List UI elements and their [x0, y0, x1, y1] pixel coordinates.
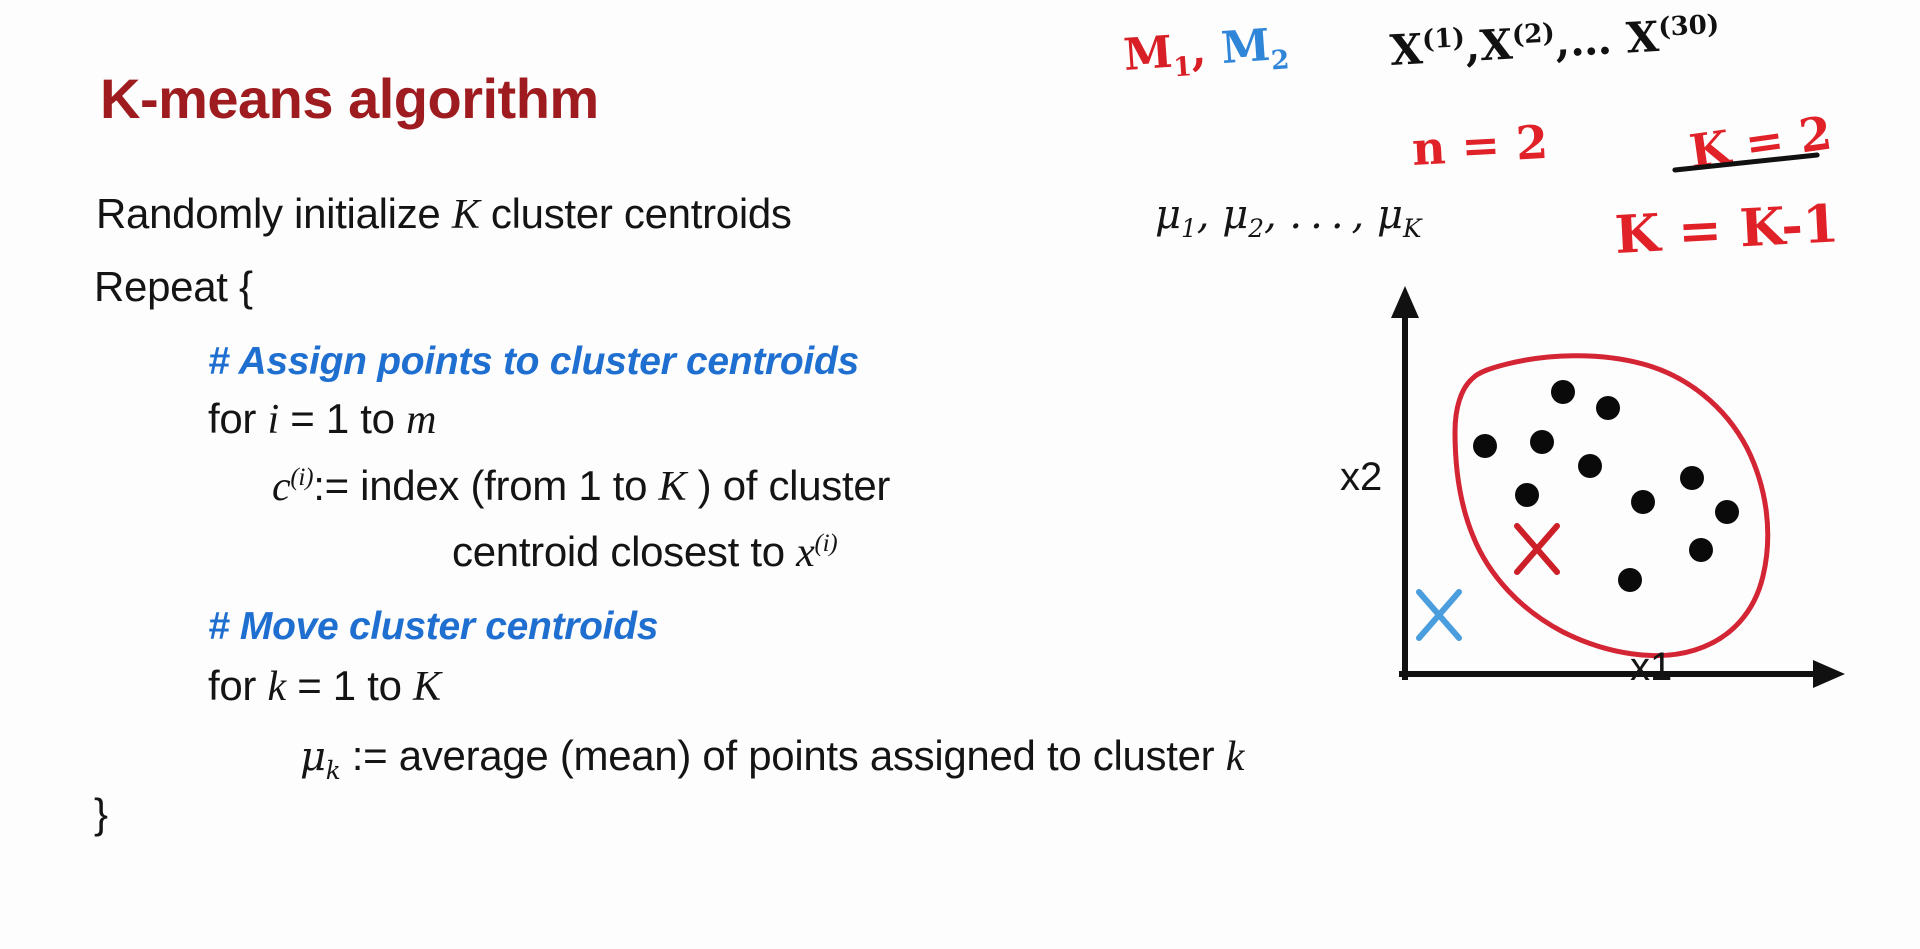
slide-canvas: K-means algorithm Randomly initialize K …	[0, 0, 1920, 949]
data-point	[1551, 380, 1575, 404]
annotation-mu-pair: Μ1, Μ2	[1122, 19, 1290, 87]
data-point	[1530, 430, 1554, 454]
text-randomly-initialize: Randomly initialize K cluster centroids	[96, 190, 792, 239]
y-axis	[1391, 286, 1419, 680]
cluster-centroids-text: cluster centroids	[491, 190, 792, 237]
data-point	[1631, 490, 1655, 514]
text-mu-k-update: μk := average (mean) of points assigned …	[300, 732, 1244, 785]
var-x: x	[796, 530, 814, 576]
mu-list-formula: μ1, μ2, . . . , μK	[1155, 192, 1422, 243]
text-repeat-open: Repeat {	[94, 263, 253, 311]
data-point	[1578, 454, 1602, 478]
comment-move-centroids: # Move cluster centroids	[208, 605, 658, 649]
annotation-k-equals-k-minus-1: K = K-1	[1613, 193, 1840, 266]
mu-2: μ2	[1222, 192, 1264, 238]
scatter-plot	[1375, 280, 1865, 700]
var-k-2: k	[1226, 734, 1244, 780]
data-point	[1618, 568, 1642, 592]
x-axis	[1399, 660, 1845, 688]
mu-ellipsis: , . . . ,	[1264, 192, 1377, 238]
data-point	[1715, 500, 1739, 524]
text-repeat-close: }	[94, 790, 108, 838]
var-i: i	[267, 397, 278, 443]
var-c: c	[272, 464, 290, 510]
y-axis-label: x2	[1340, 455, 1382, 500]
data-point	[1680, 466, 1704, 490]
annotation-n-equals-2: n = 2	[1411, 115, 1550, 176]
centroid-marker-red	[1517, 526, 1557, 572]
mu-comma-1: ,	[1197, 192, 1222, 238]
text-centroid-closest: centroid closest to x(i)	[452, 528, 837, 577]
x-axis-label: x1	[1630, 645, 1672, 690]
var-K-upper: K	[413, 664, 441, 710]
scatter-plot-svg	[1375, 280, 1865, 700]
data-points	[1473, 380, 1739, 592]
text-ci-assignment: c(i):= index (from 1 to K ) of cluster	[272, 462, 890, 511]
annotation-mu2: Μ2	[1220, 19, 1290, 75]
annotation-mu1: Μ1,	[1122, 24, 1208, 81]
mu-k-symbol: μk	[300, 734, 340, 780]
data-point	[1596, 396, 1620, 420]
k-symbol: K	[452, 192, 480, 238]
var-m: m	[406, 397, 436, 443]
page-title: K-means algorithm	[100, 66, 599, 131]
data-point	[1689, 538, 1713, 562]
text-for-loop-i: for i = 1 to m	[208, 395, 436, 444]
var-k: k	[267, 664, 285, 710]
text-for-loop-k: for k = 1 to K	[208, 662, 441, 711]
annotation-x-samples: X(1),X(2),… X(30)	[1389, 9, 1721, 75]
centroid-marker-blue	[1419, 592, 1459, 638]
comment-assign-points: # Assign points to cluster centroids	[208, 340, 859, 384]
randomly-initialize-text: Randomly initialize	[96, 190, 440, 237]
data-point	[1473, 434, 1497, 458]
data-point	[1515, 483, 1539, 507]
superscript-i: (i)	[290, 464, 313, 491]
mu-1: μ1	[1155, 192, 1197, 238]
var-K-range: K	[659, 464, 687, 510]
superscript-i-x: (i)	[815, 530, 838, 557]
mu-K: μK	[1377, 192, 1422, 238]
